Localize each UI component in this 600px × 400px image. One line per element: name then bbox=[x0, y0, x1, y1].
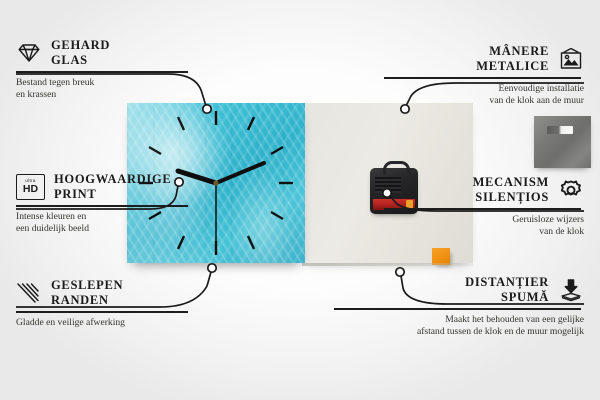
feature-title: MECANISM SILENȚIOS bbox=[473, 175, 549, 204]
feature-gehard-glas: GEHARD GLAS Bestand tegen breuk en krass… bbox=[16, 38, 191, 101]
feature-divider bbox=[16, 311, 188, 313]
feature-header: GESLEPEN RANDEN bbox=[16, 278, 191, 307]
foam-spacer bbox=[432, 248, 450, 265]
wall-mount-picture-icon bbox=[558, 47, 584, 71]
feature-divider bbox=[384, 77, 581, 79]
feature-header: MÂNERE METALICE bbox=[384, 44, 584, 73]
gear-icon bbox=[558, 178, 584, 202]
ultra-hd-icon: ultra HD bbox=[16, 174, 45, 200]
feature-divider bbox=[384, 208, 581, 210]
infographic-canvas: GEHARD GLAS Bestand tegen breuk en krass… bbox=[0, 0, 600, 400]
feature-title: GEHARD GLAS bbox=[51, 38, 110, 67]
feature-header: DISTANȚIER SPUMĂ bbox=[334, 275, 584, 304]
feature-title: HOOGWAARDIGE PRINT bbox=[54, 172, 171, 201]
feature-title: MÂNERE METALICE bbox=[476, 44, 549, 73]
feature-divider bbox=[334, 308, 581, 310]
feature-description: Bestand tegen breuk en krassen bbox=[16, 77, 191, 101]
feature-header: MECANISM SILENȚIOS bbox=[384, 175, 584, 204]
diamond-icon bbox=[16, 41, 42, 65]
feature-manere-metalice: MÂNERE METALICE Eenvoudige installatie v… bbox=[384, 44, 584, 107]
feature-description: Eenvoudige installatie van de klok aan d… bbox=[384, 83, 584, 107]
feature-description: Geruisloze wijzers van de klok bbox=[384, 214, 584, 238]
feature-divider bbox=[16, 71, 188, 73]
feature-geslepen-randen: GESLEPEN RANDEN Gladde en veilige afwerk… bbox=[16, 278, 191, 329]
movement-hanging-loop bbox=[383, 161, 410, 175]
feature-description: Gladde en veilige afwerking bbox=[16, 317, 191, 329]
feature-title: DISTANȚIER SPUMĂ bbox=[465, 275, 549, 304]
feature-divider bbox=[16, 205, 188, 207]
spacer-stack-icon bbox=[558, 278, 584, 302]
ultra-hd-icon-large-text: HD bbox=[23, 184, 38, 195]
feature-mecanism-silentios: MECANISM SILENȚIOS Geruisloze wijzers va… bbox=[384, 175, 584, 238]
feature-distantier-spuma: DISTANȚIER SPUMĂ Maakt het behouden van … bbox=[334, 275, 584, 338]
beveled-edges-icon bbox=[16, 281, 42, 305]
feature-header: ultra HD HOOGWAARDIGE PRINT bbox=[16, 172, 191, 201]
hanger-slot bbox=[547, 126, 573, 134]
metal-hanger-plate bbox=[534, 116, 591, 168]
feature-description: Maakt het behouden van een gelijke afsta… bbox=[334, 314, 584, 338]
feature-hoogwaardige-print: ultra HD HOOGWAARDIGE PRINT Intense kleu… bbox=[16, 172, 191, 235]
feature-header: GEHARD GLAS bbox=[16, 38, 191, 67]
feature-description: Intense kleuren en een duidelijk beeld bbox=[16, 211, 191, 235]
feature-title: GESLEPEN RANDEN bbox=[51, 278, 123, 307]
